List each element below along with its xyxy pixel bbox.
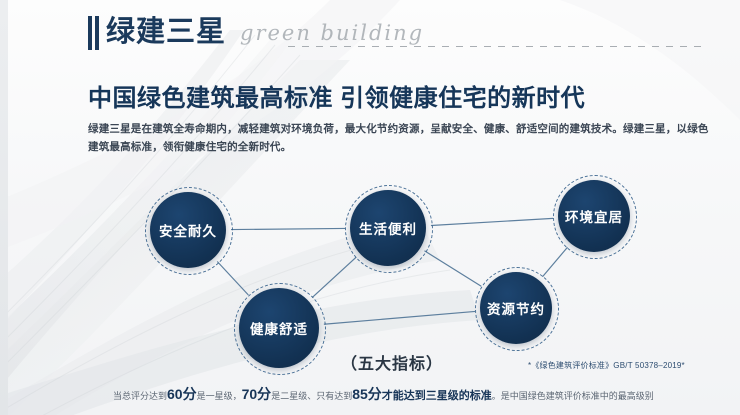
diagram-edge <box>424 251 481 286</box>
diagram-edge <box>312 257 356 298</box>
footer-part-2: 是一星级， <box>197 391 242 401</box>
footer-score-85: 85分 <box>352 386 382 402</box>
footer-note: 当总评分达到60分是一星级，70分是二星级、只有达到85分才能达到三星级的标准。… <box>113 384 733 404</box>
diagram-caption: （五大指标） <box>341 350 443 374</box>
diagram-node-environment[interactable]: 环境宜居 <box>558 180 630 252</box>
five-indicators-diagram: 安全耐久生活便利环境宜居健康舒适资源节约 （五大指标） *《绿色建筑评价标准》G… <box>0 0 740 415</box>
diagram-edge <box>431 218 553 225</box>
footer-part-4: 才能达到三星级的标准 <box>382 390 492 402</box>
diagram-node-resource[interactable]: 资源节约 <box>480 272 552 344</box>
footer-part-5: 。是中国绿色建筑评价标准中的最高级别 <box>492 391 654 401</box>
footer-part-1: 当总评分达到 <box>113 391 167 401</box>
slide-canvas: 绿建三星 green building 中国绿色建筑最高标准 引领健康住宅的新时… <box>0 0 740 415</box>
diagram-edge <box>217 262 248 296</box>
footer-score-70: 70分 <box>242 386 272 402</box>
footer-part-3: 是二星级、只有达到 <box>271 391 352 401</box>
diagram-node-convenience[interactable]: 生活便利 <box>350 190 426 266</box>
standard-citation: *《绿色建筑评价标准》GB/T 50378–2019* <box>528 360 685 371</box>
diagram-node-safety[interactable]: 安全耐久 <box>150 192 226 268</box>
diagram-edge <box>324 311 475 324</box>
diagram-edge <box>231 228 345 229</box>
footer-score-60: 60分 <box>167 386 197 402</box>
diagram-edge <box>543 247 568 276</box>
diagram-node-comfort[interactable]: 健康舒适 <box>239 288 319 368</box>
